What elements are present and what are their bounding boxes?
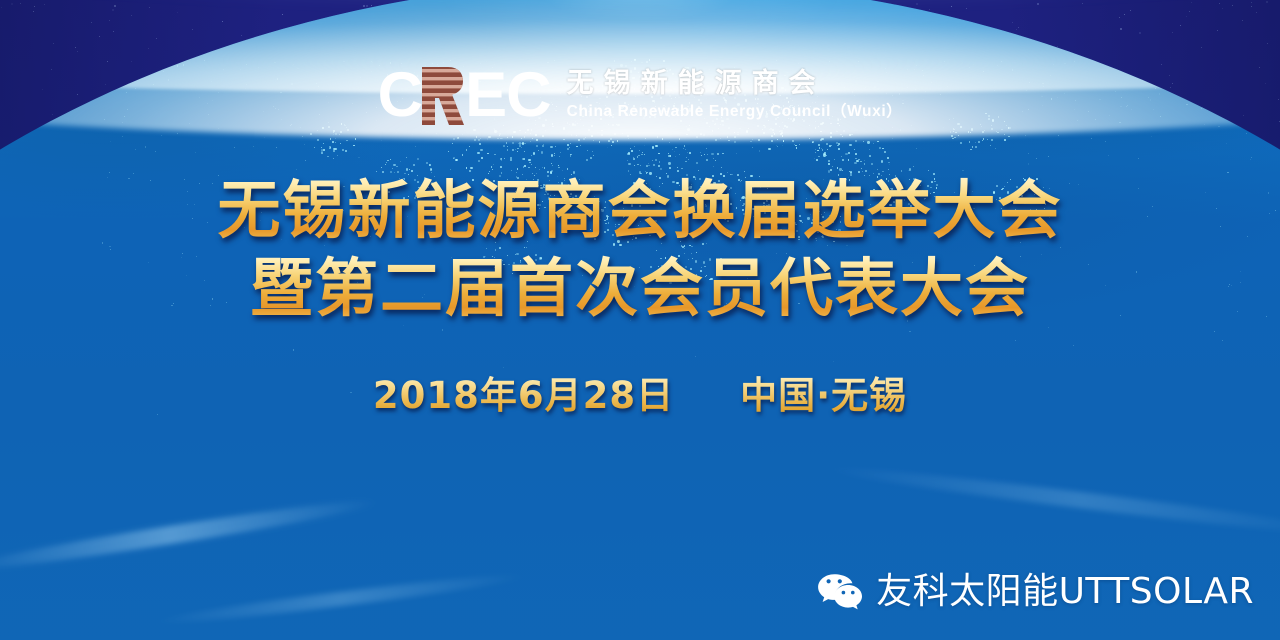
event-title-line-2: 暨第二届首次会员代表大会 <box>0 250 1280 328</box>
logo-letter-c2: C <box>506 64 551 127</box>
wechat-watermark: 友科太阳能UTTSOLAR <box>817 572 1254 612</box>
crec-logo: C <box>0 62 1280 127</box>
event-location: 中国·无锡 <box>740 372 907 420</box>
logo-name-cn: 无锡新能源商会 <box>567 68 903 98</box>
event-title: 无锡新能源商会换届选举大会 暨第二届首次会员代表大会 <box>0 172 1280 328</box>
logo-name-en: China Renewable Energy Council（Wuxi） <box>567 103 903 122</box>
event-banner: C <box>0 0 1280 640</box>
event-date: 2018年6月28日 <box>373 372 674 420</box>
crec-wordmark: C <box>378 62 551 127</box>
event-meta-inner: 2018年6月28日 中国·无锡 <box>373 372 907 420</box>
logo-letter-c1: C <box>378 64 423 127</box>
logo-text-block: 无锡新能源商会 China Renewable Energy Council（W… <box>567 62 903 122</box>
logo-letter-e: E <box>465 64 506 127</box>
wechat-icon <box>817 572 863 612</box>
striped-r-icon <box>418 67 464 125</box>
watermark-label: 友科太阳能UTTSOLAR <box>876 574 1254 610</box>
event-meta: 2018年6月28日 中国·无锡 <box>0 372 1280 420</box>
event-title-line-1: 无锡新能源商会换届选举大会 <box>0 172 1280 250</box>
